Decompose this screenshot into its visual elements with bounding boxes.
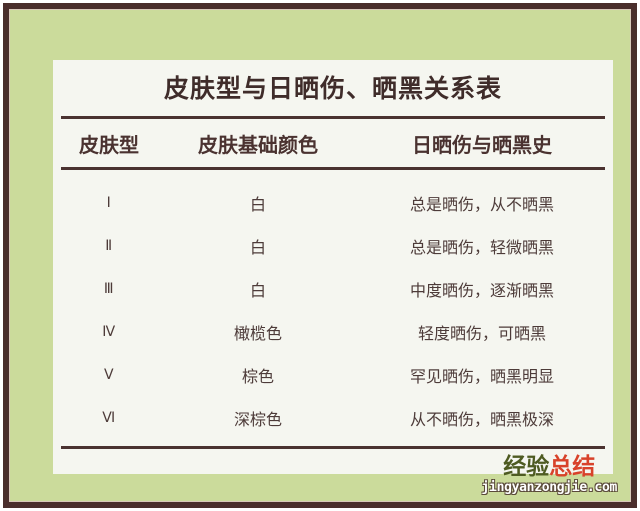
poster-frame: 皮肤型与日晒伤、晒黑关系表 皮肤型 皮肤基础颜色 日晒伤与晒黑史 Ⅰ 白 总是晒… (3, 3, 637, 508)
cell-sun-history: 轻度晒伤，可晒黑 (351, 320, 613, 344)
table-row: Ⅳ 橄榄色 轻度晒伤，可晒黑 (53, 310, 613, 353)
table-row: Ⅴ 棕色 罕见晒伤，晒黑明显 (53, 353, 613, 396)
table-body: Ⅰ 白 总是晒伤，从不晒黑 Ⅱ 白 总是晒伤，轻微晒黑 Ⅲ 白 中度晒伤，逐渐晒… (53, 170, 613, 446)
column-header-base-color: 皮肤基础颜色 (165, 129, 351, 158)
cell-base-color: 橄榄色 (165, 320, 351, 344)
rule-table-bottom (61, 446, 605, 449)
page-title: 皮肤型与日晒伤、晒黑关系表 (53, 60, 613, 101)
cell-base-color: 白 (165, 191, 351, 215)
table-row: Ⅵ 深棕色 从不晒伤，晒黑极深 (53, 396, 613, 439)
column-header-sun-history: 日晒伤与晒黑史 (351, 129, 613, 158)
cell-skin-type: Ⅱ (53, 238, 165, 254)
watermark-logo-part1: 经验 (503, 454, 549, 480)
cell-base-color: 深棕色 (165, 406, 351, 430)
table-card: 皮肤型与日晒伤、晒黑关系表 皮肤型 皮肤基础颜色 日晒伤与晒黑史 Ⅰ 白 总是晒… (53, 60, 613, 474)
cell-skin-type: Ⅴ (53, 367, 165, 383)
cell-sun-history: 总是晒伤，从不晒黑 (351, 191, 613, 215)
column-header-skin-type: 皮肤型 (53, 129, 165, 158)
watermark-logo: 经验总结 (482, 456, 617, 479)
cell-skin-type: Ⅰ (53, 195, 165, 211)
table-header-row: 皮肤型 皮肤基础颜色 日晒伤与晒黑史 (53, 119, 613, 167)
cell-skin-type: Ⅳ (53, 324, 165, 340)
table-row: Ⅱ 白 总是晒伤，轻微晒黑 (53, 224, 613, 267)
watermark: 经验总结 jingyanzongjie.com (482, 456, 617, 494)
cell-base-color: 白 (165, 234, 351, 258)
cell-skin-type: Ⅲ (53, 281, 165, 297)
cell-sun-history: 从不晒伤，晒黑极深 (351, 406, 613, 430)
cell-sun-history: 中度晒伤，逐渐晒黑 (351, 277, 613, 301)
cell-base-color: 棕色 (165, 363, 351, 387)
cell-skin-type: Ⅵ (53, 410, 165, 426)
table-row: Ⅰ 白 总是晒伤，从不晒黑 (53, 181, 613, 224)
cell-sun-history: 总是晒伤，轻微晒黑 (351, 234, 613, 258)
watermark-logo-part2: 总结 (549, 454, 595, 480)
cell-sun-history: 罕见晒伤，晒黑明显 (351, 363, 613, 387)
cell-base-color: 白 (165, 277, 351, 301)
watermark-url: jingyanzongjie.com (482, 481, 617, 494)
table-row: Ⅲ 白 中度晒伤，逐渐晒黑 (53, 267, 613, 310)
